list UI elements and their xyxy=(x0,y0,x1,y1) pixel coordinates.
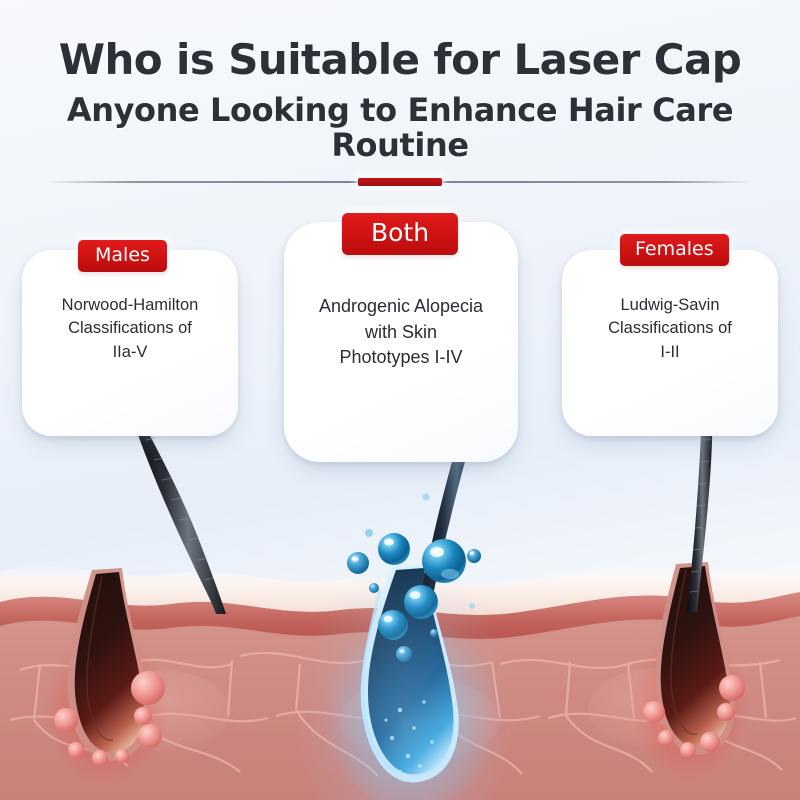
divider xyxy=(48,176,752,188)
card-females-text: Ludwig-Savin Classifications of I-II xyxy=(594,250,746,364)
card-females[interactable]: Ludwig-Savin Classifications of I-II xyxy=(562,250,778,436)
card-both[interactable]: Androgenic Alopecia with Skin Phototypes… xyxy=(284,222,518,462)
page-title: Who is Suitable for Laser Cap xyxy=(0,38,800,83)
droplet xyxy=(365,529,373,537)
badge-both[interactable]: Both xyxy=(342,213,458,255)
poster-root: Who is Suitable for Laser Cap Anyone Loo… xyxy=(0,0,800,800)
droplet xyxy=(423,494,430,501)
header: Who is Suitable for Laser Cap Anyone Loo… xyxy=(0,0,800,163)
divider-accent-bar xyxy=(358,178,442,186)
badge-males[interactable]: Males xyxy=(78,240,167,272)
card-males[interactable]: Norwood-Hamilton Classifications of IIa-… xyxy=(22,250,238,436)
page-subtitle: Anyone Looking to Enhance Hair Care Rout… xyxy=(0,93,800,163)
badge-females[interactable]: Females xyxy=(620,234,729,266)
skin-cross-section-illustration xyxy=(0,560,800,800)
